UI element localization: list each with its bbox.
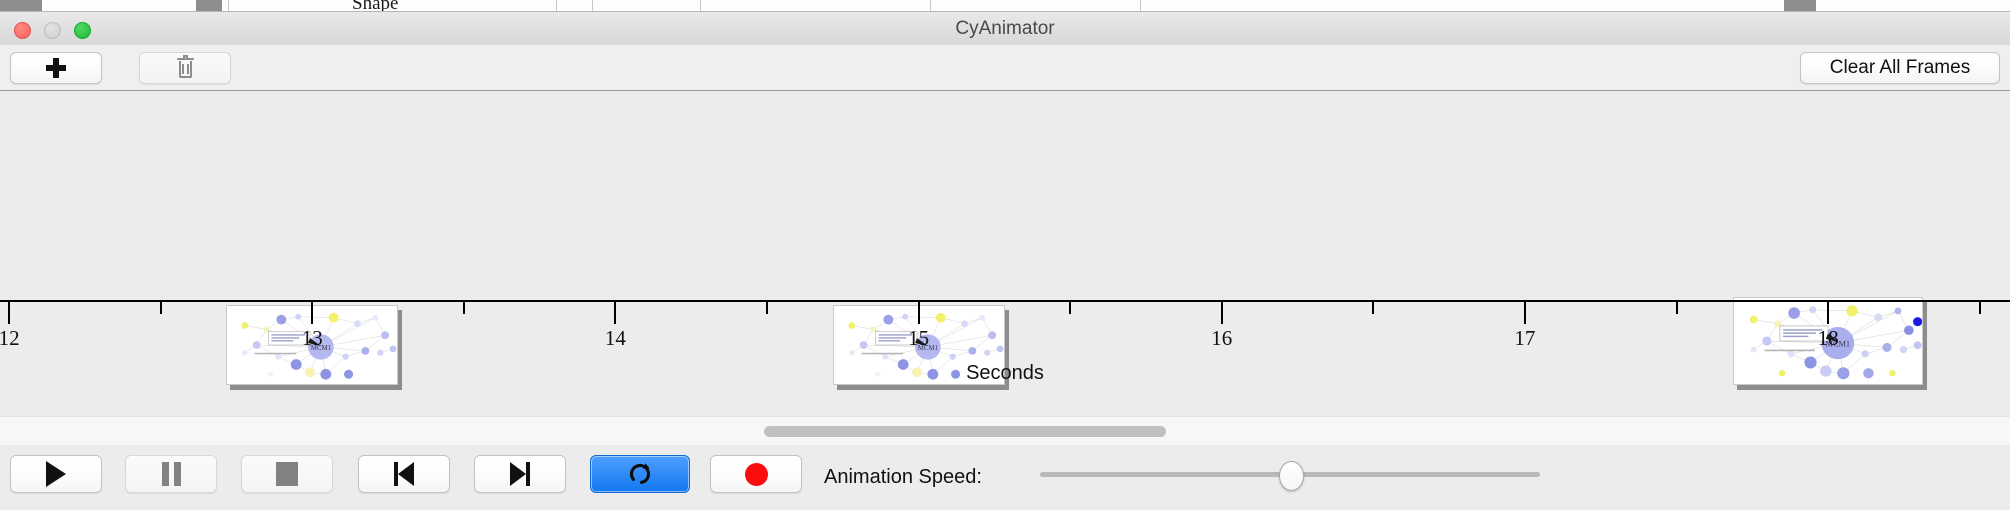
ruler-tick-minor (1069, 302, 1071, 314)
skip-to-end-button[interactable] (474, 455, 566, 493)
ruler-tick-minor (766, 302, 768, 314)
ruler-tick-label: 12 (0, 326, 20, 351)
ruler-tick-major (8, 302, 10, 324)
ruler-tick-major (1221, 302, 1223, 324)
timeline-ruler[interactable]: 12131415161718 Seconds (0, 300, 2010, 416)
background-window-strip: Shape (0, 0, 2010, 12)
toolbar: Clear All Frames (0, 45, 2010, 91)
stop-button[interactable] (241, 455, 333, 493)
trash-icon (177, 58, 194, 79)
ruler-tick-label: 13 (302, 326, 323, 351)
record-icon (745, 463, 768, 486)
pause-button[interactable] (125, 455, 217, 493)
ruler-tick-major (1524, 302, 1526, 324)
ruler-tick-major (918, 302, 920, 324)
loop-button[interactable] (590, 455, 690, 493)
ruler-tick-minor (1979, 302, 1981, 314)
ruler-tick-minor (463, 302, 465, 314)
play-icon (46, 461, 66, 487)
clear-all-frames-button[interactable]: Clear All Frames (1800, 52, 2000, 84)
slider-thumb[interactable] (1279, 461, 1304, 491)
ruler-tick-label: 18 (1818, 326, 1839, 351)
ruler-tick-minor (160, 302, 162, 314)
plus-icon (46, 58, 66, 78)
ruler-axis-title: Seconds (0, 362, 2010, 385)
ruler-tick-major (311, 302, 313, 324)
animation-speed-slider[interactable] (1040, 455, 1540, 493)
ruler-tick-label: 17 (1514, 326, 1535, 351)
animation-speed-label: Animation Speed: (824, 466, 982, 489)
cyanimator-window: Shape CyAnimator Clear All Frames (0, 0, 2010, 510)
play-button[interactable] (10, 455, 102, 493)
add-frame-button[interactable] (10, 52, 102, 84)
scrollbar-thumb[interactable] (764, 426, 1166, 437)
ruler-tick-label: 16 (1211, 326, 1232, 351)
pause-icon (162, 462, 181, 486)
title-bar: CyAnimator (0, 12, 2010, 46)
ruler-tick-minor (1372, 302, 1374, 314)
horizontal-scrollbar[interactable] (0, 416, 2010, 446)
ruler-tick-major (614, 302, 616, 324)
transport-bar: Animation Speed: (0, 445, 2010, 510)
delete-frame-button[interactable] (139, 52, 231, 84)
loop-icon (627, 461, 653, 487)
skip-back-icon (394, 462, 414, 486)
skip-to-start-button[interactable] (358, 455, 450, 493)
ruler-tick-label: 14 (605, 326, 626, 351)
ruler-tick-minor (1676, 302, 1678, 314)
stop-icon (276, 462, 298, 486)
ruler-tick-major (1827, 302, 1829, 324)
ruler-axis-line (0, 300, 2010, 302)
skip-forward-icon (510, 462, 530, 486)
record-button[interactable] (710, 455, 802, 493)
window-title: CyAnimator (0, 12, 2010, 45)
ruler-tick-label: 15 (908, 326, 929, 351)
